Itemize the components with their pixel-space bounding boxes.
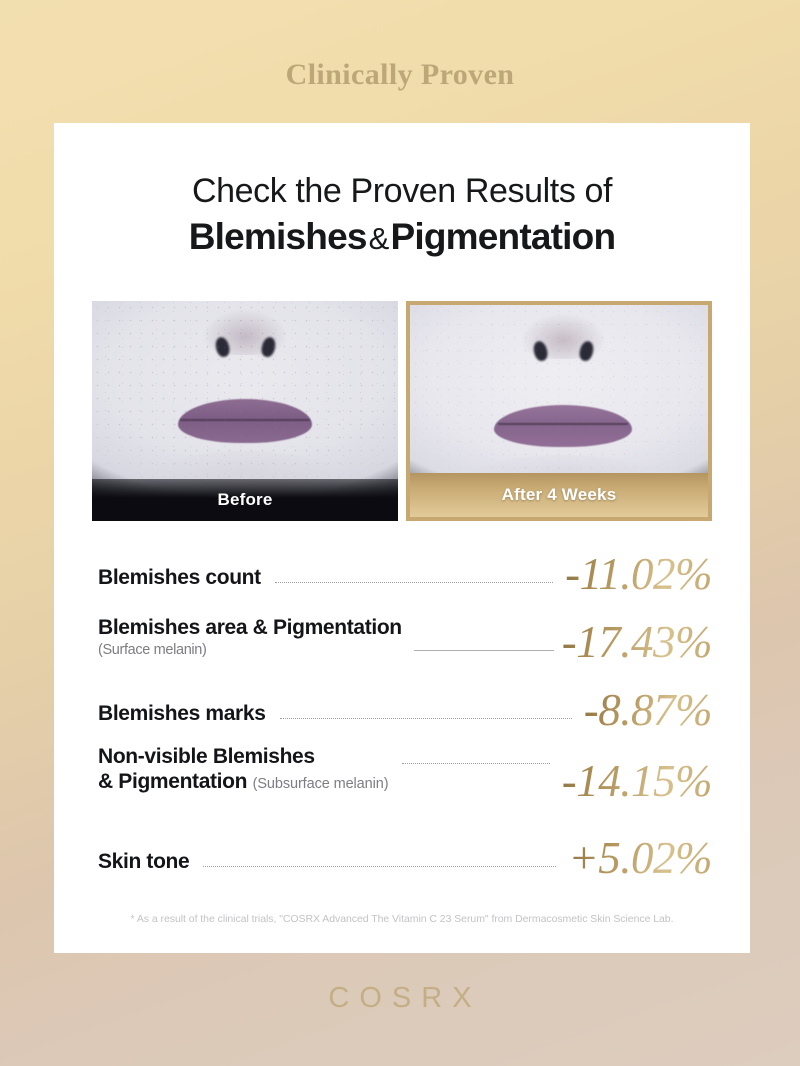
- result-value: -8.87%: [584, 688, 712, 735]
- leader-line: [414, 650, 554, 651]
- page-title: Check the Proven Results of Blemishes&Pi…: [54, 171, 750, 259]
- leader-line: [203, 866, 556, 867]
- results-card: Check the Proven Results of Blemishes&Pi…: [54, 123, 750, 953]
- result-row: Blemishes count -11.02%: [98, 541, 712, 599]
- result-label-line1: Non-visible Blemishes: [98, 745, 315, 768]
- result-label: Blemishes marks: [98, 702, 266, 735]
- leader-line: [402, 763, 549, 764]
- page-title-line1: Check the Proven Results of: [54, 171, 750, 211]
- result-label: Skin tone: [98, 850, 189, 883]
- result-label-text: Blemishes area & Pigmentation: [98, 616, 402, 639]
- photo-caption-after: After 4 Weeks: [410, 473, 708, 517]
- result-value: -17.43%: [562, 620, 712, 667]
- result-row: Non-visible Blemishes & Pigmentation (Su…: [98, 745, 712, 815]
- brand-heading: Clinically Proven: [0, 58, 800, 92]
- results-list: Blemishes count -11.02% Blemishes area &…: [98, 541, 712, 893]
- page-title-pigmentation: Pigmentation: [391, 216, 616, 257]
- footnote: * As a result of the clinical trials, "C…: [54, 913, 750, 925]
- result-value: -11.02%: [565, 552, 712, 599]
- result-row: Skin tone +5.02%: [98, 825, 712, 883]
- photo-after: After 4 Weeks: [406, 301, 712, 521]
- page-title-line2: Blemishes&Pigmentation: [54, 215, 750, 259]
- cosrx-logo: COSRX: [0, 982, 800, 1015]
- result-label: Blemishes area & Pigmentation (Surface m…: [98, 616, 402, 667]
- page-title-blemishes: Blemishes: [189, 216, 367, 257]
- before-after-photos: Before After 4 Weeks: [92, 301, 712, 521]
- result-row: Blemishes marks -8.87%: [98, 677, 712, 735]
- result-row: Blemishes area & Pigmentation (Surface m…: [98, 609, 712, 667]
- leader-line: [275, 582, 553, 583]
- photo-caption-before: Before: [92, 479, 398, 521]
- result-label: Blemishes count: [98, 566, 261, 599]
- result-value: -14.15%: [562, 759, 712, 806]
- page-title-ampersand: &: [367, 221, 391, 256]
- result-value: +5.02%: [568, 836, 712, 883]
- result-sublabel: (Surface melanin): [98, 642, 402, 659]
- result-label-line2: & Pigmentation: [98, 770, 247, 793]
- photo-before: Before: [92, 301, 398, 521]
- result-sublabel: (Subsurface melanin): [253, 776, 389, 792]
- leader-line: [280, 718, 572, 719]
- result-label: Non-visible Blemishes & Pigmentation (Su…: [98, 745, 388, 795]
